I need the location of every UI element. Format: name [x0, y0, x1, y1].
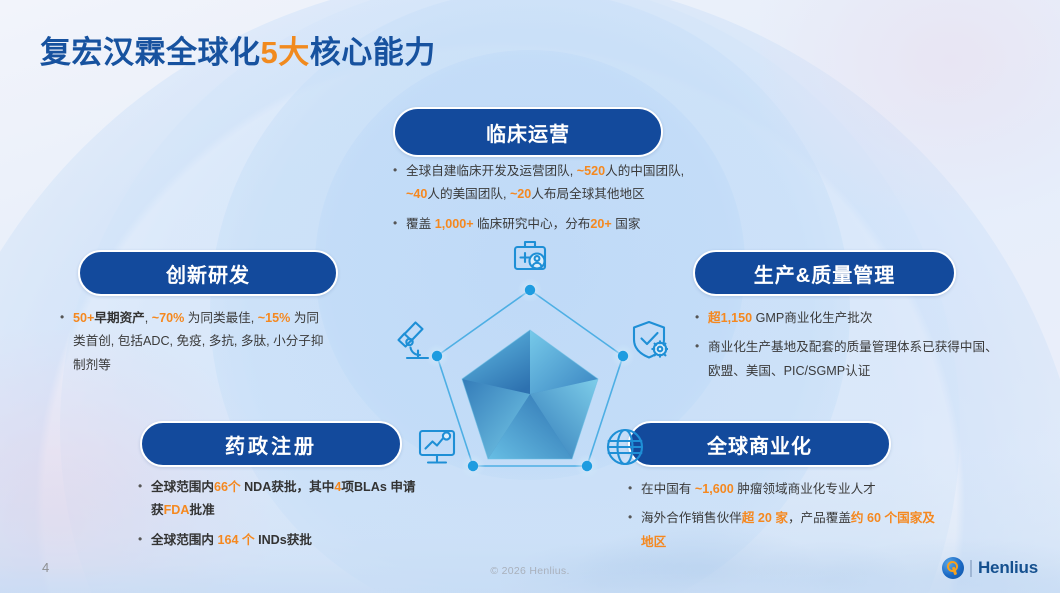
henlius-wordmark: Henlius	[978, 558, 1038, 578]
bullet-item: 商业化生产基地及配套的质量管理体系已获得中国、欧盟、美国、PIC/SGMP认证	[695, 336, 1005, 383]
card-bullets-commercial: 在中国有 ~1,600 肿瘤领域商业化专业人才海外合作销售伙伴超 20 家，产品…	[628, 478, 938, 560]
background-glow-top-right	[760, 0, 1060, 210]
page-title-accent: 5大	[261, 35, 310, 70]
bullet-item: 全球范围内 164 个 INDs获批	[138, 529, 428, 552]
bullet-text-run: 早期资产	[94, 311, 144, 325]
bullet-text-run: 1,000+	[435, 217, 474, 231]
bullet-text-run: NDA获批，其中	[241, 480, 335, 494]
microscope-icon	[399, 323, 429, 359]
bullet-text-run: 超	[708, 311, 721, 325]
bullet-text-run: 人的美国团队,	[427, 187, 510, 201]
card-title-clinical[interactable]: 临床运营	[393, 107, 663, 157]
bullet-text-run: INDs获批	[255, 533, 312, 547]
bullet-text-run: 全球范围内	[151, 480, 214, 494]
bullet-text-run: 肿瘤领域商业化专业人才	[734, 482, 876, 496]
bullet-text-run: 为同类最佳,	[184, 311, 257, 325]
bullet-text-run: 50+	[73, 311, 94, 325]
bullet-text-run: 商业化生产基地及配套的质量管理体系已获得中国、欧盟、美国、PIC/SGMP认证	[708, 340, 998, 377]
page-title: 复宏汉霖全球化5大核心能力	[40, 27, 436, 72]
globe-icon	[608, 430, 642, 464]
bullet-text-run: 20+	[590, 217, 611, 231]
card-title-manufacturing[interactable]: 生产&质量管理	[693, 250, 956, 296]
bullet-text-run: ~70%	[152, 311, 185, 325]
bullet-text-run: ~20	[510, 187, 531, 201]
copyright-notice: © 2026 Henlius.	[0, 565, 1060, 577]
bullet-item: 50+早期资产, ~70% 为同类最佳, ~15% 为同类首创, 包括ADC, …	[60, 307, 330, 377]
bullet-item: 全球范围内66个 NDA获批，其中4项BLAs 申请获FDA批准	[138, 476, 428, 523]
card-bullets-regulatory: 全球范围内66个 NDA获批，其中4项BLAs 申请获FDA批准 全球范围内 1…	[138, 476, 428, 558]
bullet-text-run: 超 20 家	[742, 511, 788, 525]
bullet-text-run: 人的中国团队,	[605, 164, 684, 178]
bullet-text-run: 人布局全球其他地区	[531, 187, 644, 201]
bullet-item: 全球自建临床开发及运营团队, ~520人的中国团队, ~40人的美国团队, ~2…	[393, 160, 693, 207]
bullet-text-run: 66个	[214, 480, 241, 494]
bullet-text-run: 1,150	[721, 311, 753, 325]
bullet-text-run: 全球自建临床开发及运营团队,	[406, 164, 577, 178]
henlius-logo-mark-icon	[942, 557, 964, 579]
bullet-text-run: 164 个	[217, 533, 254, 547]
pentagon-capability-diagram	[392, 232, 668, 500]
bullet-text-run: ~520	[577, 164, 605, 178]
bullet-item: 在中国有 ~1,600 肿瘤领域商业化专业人才	[628, 478, 938, 501]
logo-divider	[970, 560, 972, 577]
card-bullets-manufacturing: 超1,150 GMP商业化生产批次商业化生产基地及配套的质量管理体系已获得中国、…	[695, 307, 1005, 389]
card-title-regulatory[interactable]: 药政注册	[140, 421, 402, 467]
page-title-main: 复宏汉霖全球化	[40, 35, 261, 70]
bullet-text-run: 全球范围内	[151, 533, 217, 547]
page-title-tail: 核心能力	[310, 35, 436, 70]
slide-canvas: 复宏汉霖全球化5大核心能力 临床运营 创新研发 生产&质量管理 药政注册 全球商…	[0, 0, 1060, 593]
chart-monitor-icon	[420, 431, 454, 463]
card-bullets-rnd: 50+早期资产, ~70% 为同类最佳, ~15% 为同类首创, 包括ADC, …	[60, 307, 330, 383]
bullet-text-run: ~15%	[258, 311, 291, 325]
bullet-text-run: ,	[145, 311, 152, 325]
bullet-text-run: ~40	[406, 187, 427, 201]
bullet-text-run: FDA	[164, 503, 190, 517]
card-title-rnd[interactable]: 创新研发	[78, 250, 338, 296]
card-bullets-clinical: 全球自建临床开发及运营团队, ~520人的中国团队, ~40人的美国团队, ~2…	[393, 160, 693, 242]
bullet-text-run: 海外合作销售伙伴	[641, 511, 742, 525]
medical-kit-icon	[515, 242, 545, 269]
bullet-item: 超1,150 GMP商业化生产批次	[695, 307, 1005, 330]
bullet-text-run: ，产品覆盖	[788, 511, 851, 525]
bullet-text-run: 国家	[612, 217, 641, 231]
bullet-text-run: 临床研究中心，分布	[474, 217, 591, 231]
bullet-text-run: ~1,600	[695, 482, 734, 496]
bullet-text-run: GMP商业化生产批次	[752, 311, 872, 325]
bullet-item: 海外合作销售伙伴超 20 家，产品覆盖约 60 个国家及地区	[628, 507, 938, 554]
shield-check-gear-icon	[634, 322, 668, 358]
bullet-text-run: 批准	[189, 503, 214, 517]
diagram-center-pentagon	[462, 330, 598, 459]
henlius-logo: Henlius	[942, 557, 1038, 579]
bullet-text-run: 覆盖	[406, 217, 435, 231]
